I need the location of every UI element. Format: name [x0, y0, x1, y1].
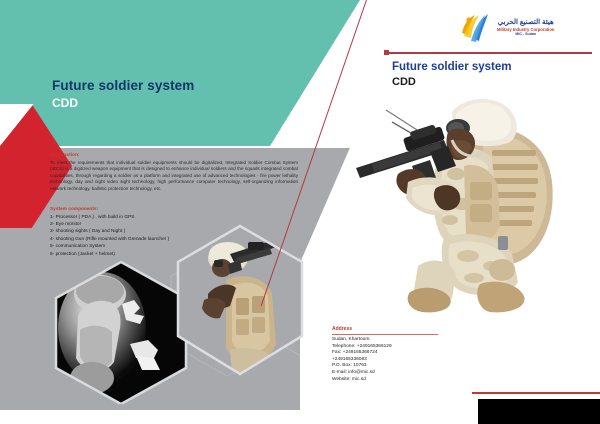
right-title-main: Future soldier system — [392, 60, 512, 74]
component-item: 3- shooting sights ( Day and Night ) — [50, 228, 260, 235]
teal-header-panel — [0, 0, 360, 146]
address-line: P.O. Box: 10763 — [332, 363, 442, 370]
address-line: Sudan, Khartoum. — [332, 337, 442, 344]
system-components-block: System components: 1- Processor ( PDA ) … — [50, 206, 260, 258]
thermal-image-hexagon — [48, 258, 194, 404]
main-soldier-photo — [352, 70, 584, 320]
address-divider — [332, 334, 438, 335]
brochure-page: Future soldier system CDD Future soldier… — [0, 0, 600, 424]
mic-logo-arabic: هيئة التصنيع الحربي — [498, 19, 554, 26]
introduction-body: To meet the requirements that individual… — [50, 160, 298, 193]
address-line: Fax: +249165366724 — [332, 350, 442, 357]
component-item: 1- Processor ( PDA ) , with build in GPS — [50, 214, 260, 221]
component-item: 4- shooting Gun (Rifle mounted with Gren… — [50, 236, 260, 243]
left-title-main: Future soldier system — [52, 78, 194, 93]
bottom-black-band — [478, 399, 600, 424]
introduction-heading: Introduction: — [50, 152, 298, 158]
bullet-square-marker — [384, 50, 389, 55]
address-block: Address Sudan, Khartoum. Telephone: +249… — [332, 326, 442, 383]
component-item: 5- communication System — [50, 243, 260, 250]
left-title-sub: CDD — [52, 97, 194, 110]
right-title-group: Future soldier system CDD — [392, 60, 512, 89]
component-item: 6- protection (Jacket + helmet) — [50, 251, 260, 258]
title-underline-rule — [386, 52, 592, 54]
system-components-list: 1- Processor ( PDA ) , with build in GPS… — [50, 214, 260, 258]
mic-logo-subtitle: MIC - Sudan — [515, 33, 536, 37]
mic-logo-text: هيئة التصنيع الحربي Military Industry Co… — [497, 19, 554, 36]
bottom-red-rule — [472, 392, 600, 394]
component-item: 2- Eye monitor — [50, 221, 260, 228]
address-line: E-mail: info@mic.sd — [332, 370, 442, 377]
address-heading: Address — [332, 326, 442, 333]
address-line: Website: mic.sd — [332, 377, 442, 384]
system-components-heading: System components: — [50, 206, 260, 212]
mic-emblem-icon — [458, 11, 492, 45]
left-title-group: Future soldier system CDD — [52, 78, 194, 110]
right-title-sub: CDD — [392, 76, 512, 89]
mic-logo: هيئة التصنيع الحربي Military Industry Co… — [458, 8, 594, 48]
introduction-block: Introduction: To meet the requirements t… — [50, 152, 298, 192]
